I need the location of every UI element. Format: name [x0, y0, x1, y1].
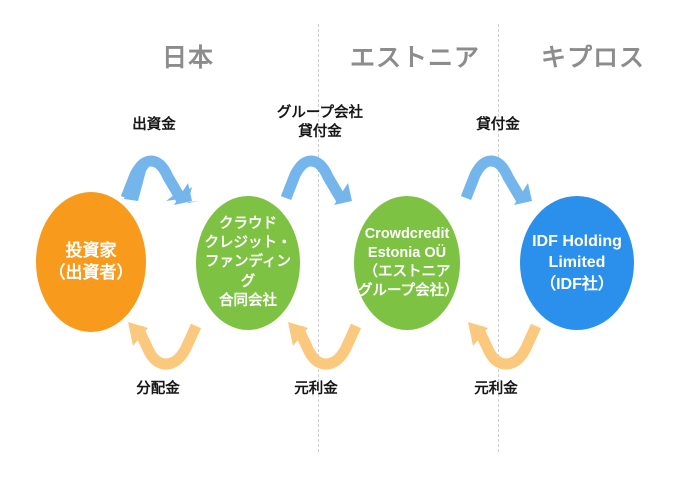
- entity-investor-label: 投資家 （出資者）: [45, 240, 138, 285]
- flow-arrow-group-loan: [282, 155, 368, 203]
- country-label-cyprus: キプロス: [508, 38, 678, 74]
- entity-crowdcredit-estonia-label: Crowdcredit Estonia OÜ （エストニア グループ会社）: [354, 225, 460, 302]
- flow-label-distribution: 分配金: [112, 380, 204, 399]
- flow-label-investment: 出資金: [108, 116, 200, 135]
- flow-arrow-principal-interest-2: [458, 322, 544, 372]
- entity-crowdcredit-estonia: Crowdcredit Estonia OÜ （エストニア グループ会社）: [354, 196, 460, 330]
- entity-crowdcredit-funding-label: クラウド クレジット・ ファンディング 合同会社: [196, 215, 300, 311]
- entity-crowdcredit-funding: クラウド クレジット・ ファンディング 合同会社: [196, 196, 300, 330]
- flow-label-principal-interest-2: 元利金: [450, 380, 542, 399]
- flow-label-loan: 貸付金: [448, 116, 548, 135]
- flow-arrow-investment: [122, 155, 208, 203]
- entity-idf-holding: IDF Holding Limited （IDF社）: [520, 196, 634, 330]
- diagram-canvas: 日本 エストニア キプロス 出資金 グループ会社 貸付金 貸付金 分配金 元利金…: [0, 0, 680, 480]
- flow-label-group-loan: グループ会社 貸付金: [258, 104, 382, 141]
- country-label-japan: 日本: [108, 38, 268, 74]
- flow-arrow-distribution: [118, 322, 204, 372]
- flow-label-principal-interest-1: 元利金: [270, 380, 362, 399]
- flow-arrow-principal-interest-1: [278, 322, 364, 372]
- entity-idf-holding-label: IDF Holding Limited （IDF社）: [528, 231, 626, 294]
- country-label-estonia: エストニア: [330, 38, 500, 74]
- entity-investor: 投資家 （出資者）: [36, 192, 146, 332]
- flow-arrow-loan: [462, 155, 548, 203]
